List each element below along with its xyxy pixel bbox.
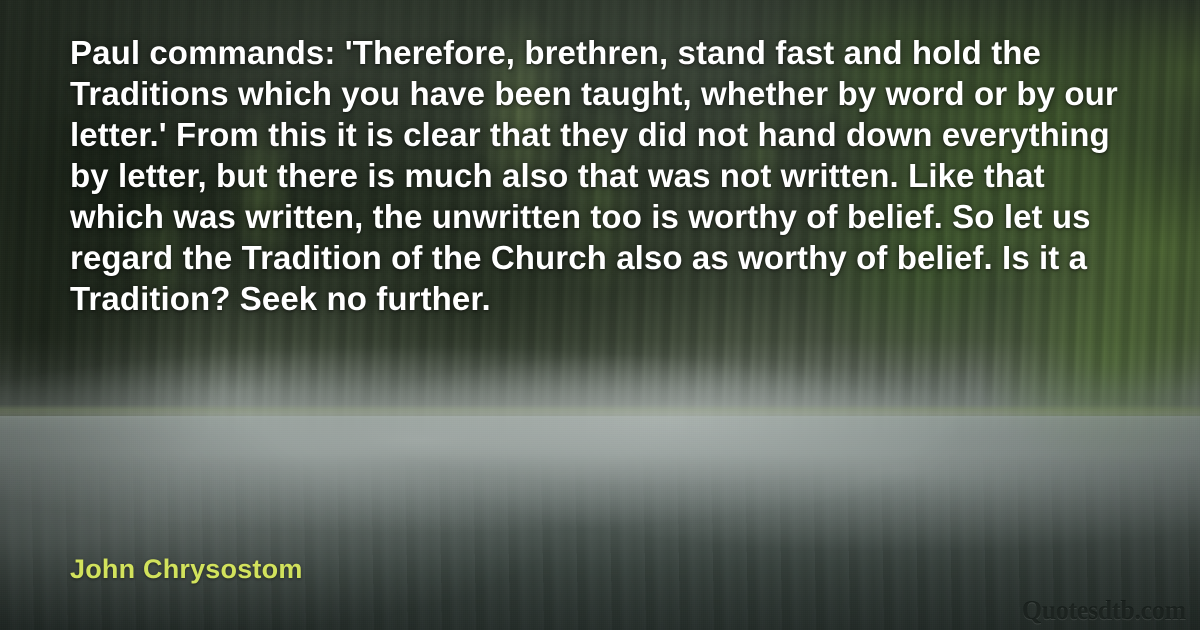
quote-content: Paul commands: 'Therefore, brethren, sta… <box>0 0 1200 630</box>
author-name: John Chrysostom <box>70 553 303 585</box>
site-watermark: Quotesdtb.com <box>1022 597 1186 624</box>
quote-card: Paul commands: 'Therefore, brethren, sta… <box>0 0 1200 630</box>
quote-text: Paul commands: 'Therefore, brethren, sta… <box>70 32 1145 319</box>
